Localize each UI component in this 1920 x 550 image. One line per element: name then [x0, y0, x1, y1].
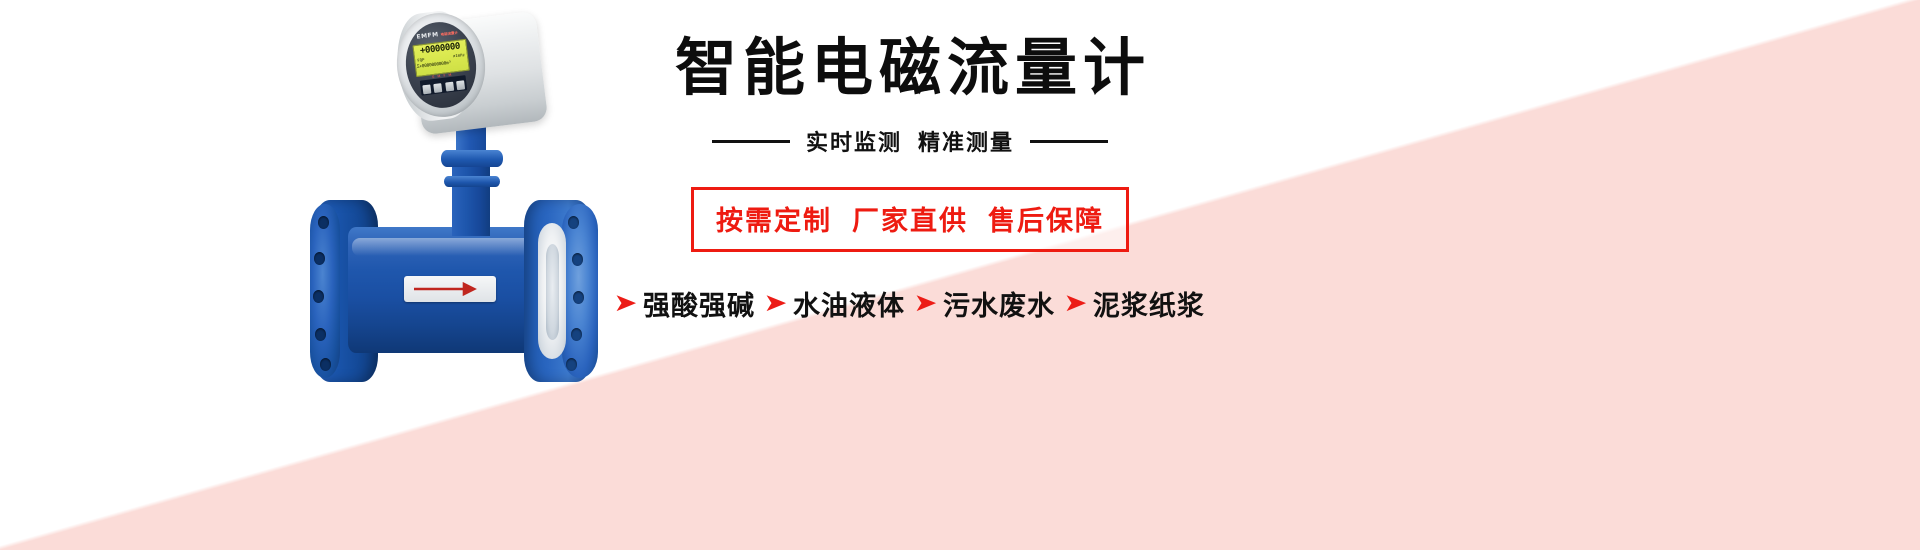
flow-arrow-icon	[412, 282, 488, 296]
bolt-hole	[573, 291, 584, 304]
promo-item-1: 按需定制	[716, 206, 832, 236]
arrow-right-icon: ➤	[1063, 291, 1087, 316]
promo-text: 按需定制厂家直供售后保障	[716, 206, 1104, 236]
keypad-button-2[interactable]	[433, 83, 442, 93]
subtitle-rule-right	[1030, 140, 1108, 143]
bolt-hole	[318, 216, 329, 229]
bolt-hole	[566, 358, 577, 371]
bullet-label: 污水废水	[943, 284, 1055, 323]
bolt-hole	[571, 328, 582, 341]
list-item: ➤ 强酸强碱	[615, 284, 755, 323]
list-item: ➤ 污水废水	[915, 284, 1055, 323]
keypad-button-4[interactable]	[456, 80, 465, 90]
bolt-hole	[320, 358, 331, 371]
subtitle-rule-left	[712, 140, 790, 143]
neck-column	[452, 158, 490, 236]
neck-ring-upper	[441, 150, 503, 167]
keypad-button-1[interactable]	[422, 84, 431, 94]
subtitle-text: 实时监测精准测量	[806, 125, 1014, 157]
bolt-hole	[568, 216, 579, 229]
subtitle-left: 实时监测	[806, 130, 902, 155]
bolt-hole	[315, 328, 326, 341]
subtitle-row: 实时监测精准测量	[600, 125, 1220, 157]
bullet-label: 强酸强碱	[643, 284, 755, 323]
bullet-label: 泥浆纸浆	[1093, 284, 1205, 323]
promo-item-2: 厂家直供	[852, 206, 968, 236]
arrow-right-icon: ➤	[763, 291, 787, 316]
promo-item-3: 售后保障	[988, 206, 1104, 236]
list-item: ➤ 泥浆纸浆	[1065, 284, 1205, 323]
bolt-hole	[314, 252, 325, 265]
device-brand-subtext: 电磁流量计	[440, 31, 458, 37]
neck-ring-lower	[444, 176, 500, 187]
bolt-hole	[313, 290, 324, 303]
arrow-right-icon: ➤	[614, 291, 638, 316]
page-title: 智能电磁流量计	[600, 36, 1220, 101]
bolt-hole	[572, 253, 583, 266]
arrow-right-icon: ➤	[913, 291, 937, 316]
application-bullet-list: ➤ 强酸强碱 ➤ 水油液体 ➤ 污水废水 ➤ 泥浆纸浆	[600, 284, 1220, 323]
bullet-label: 水油液体	[793, 284, 905, 323]
banner-text-block: 智能电磁流量计 实时监测精准测量 按需定制厂家直供售后保障 ➤ 强酸强碱 ➤ 水…	[600, 36, 1220, 323]
device-brand-text: EMFM	[416, 31, 439, 41]
subtitle-right: 精准测量	[918, 130, 1014, 155]
product-banner: EMFM电磁流量计 +0000000 FQP ≠1mHz Σ+000000000…	[0, 0, 1920, 550]
promo-badge: 按需定制厂家直供售后保障	[691, 187, 1129, 252]
body-highlight	[352, 238, 550, 256]
list-item: ➤ 水油液体	[765, 284, 905, 323]
keypad-button-3[interactable]	[445, 81, 454, 91]
flow-direction-plate	[404, 276, 496, 302]
pipe-bore	[546, 244, 559, 340]
